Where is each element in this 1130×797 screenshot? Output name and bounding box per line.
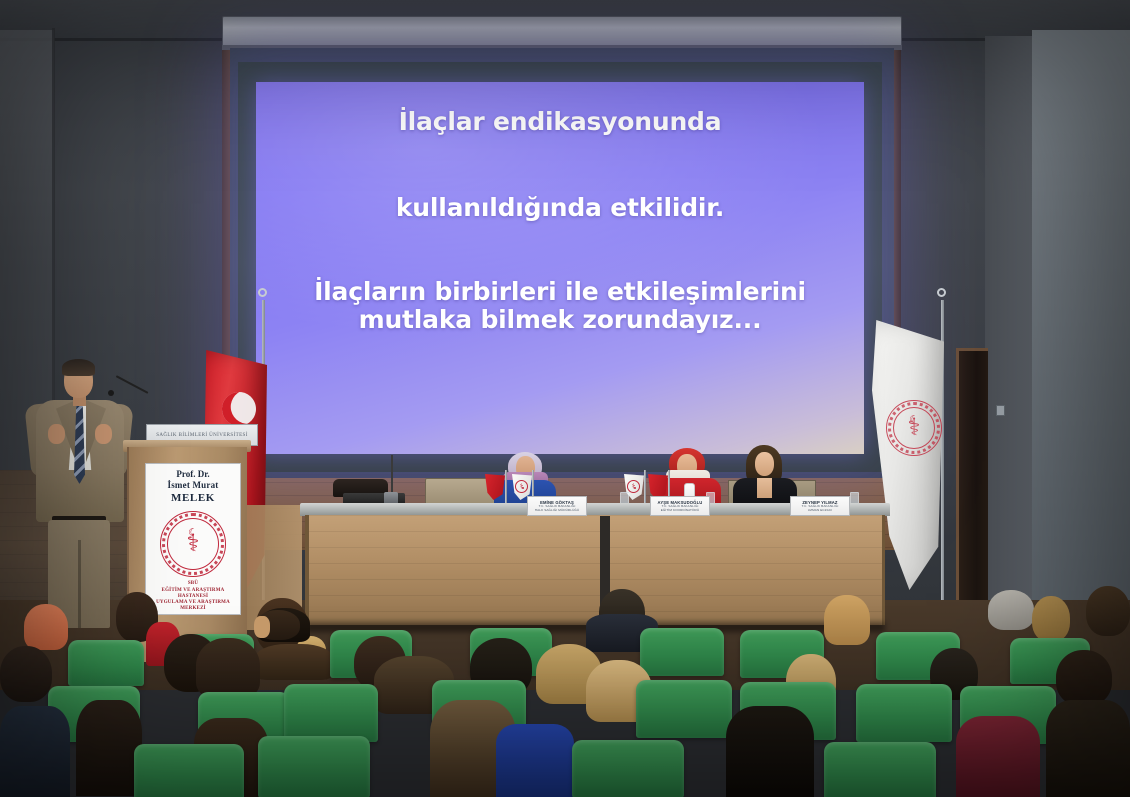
- audience-head: [824, 595, 870, 645]
- nameplate-1: EMİNE GÖKTAŞ T.C. SAĞLIK BAKANLIĞI HALK …: [527, 496, 587, 516]
- slide-line-4: mutlaka bilmek zorundayız...: [274, 306, 846, 334]
- ministry-flag-finial: [937, 288, 946, 297]
- audience-head: [24, 604, 68, 650]
- nameplate-2: AYŞE MAKSUDOĞLU T.C. SAĞLIK BAKANLIĞI EĞ…: [650, 496, 710, 516]
- audience-head: [988, 590, 1034, 630]
- audience-head: [0, 646, 52, 702]
- audience-head: [1032, 596, 1070, 642]
- auditorium-seat[interactable]: [636, 680, 732, 738]
- audience-head: [1056, 650, 1112, 706]
- nameplate-3: ZEYNEP YILMAZ T.C. SAĞLIK BAKANLIĞI UZMA…: [790, 496, 850, 516]
- auditorium-seat[interactable]: [68, 640, 144, 686]
- podium-microphone-head: [108, 390, 114, 396]
- conference-hall-scene: İlaçlar endikasyonunda kullanıldığında e…: [0, 0, 1130, 797]
- podium-sign-emblem-icon: ☾ ⚕: [160, 511, 226, 577]
- projection-screen: İlaçlar endikasyonunda kullanıldığında e…: [256, 82, 864, 454]
- nameplate-3-sub2: UZMAN ECZACI: [808, 509, 832, 513]
- desk-flag-turkish-1: [485, 474, 507, 504]
- right-wall-face: [1032, 30, 1130, 630]
- audience-head: [255, 644, 333, 680]
- slide-line-2: kullanıldığında etkilidir.: [274, 194, 846, 222]
- panel-microphone-stem: [391, 455, 393, 495]
- desk-flag-emblem-icon-1: ⚕: [515, 480, 528, 493]
- podium-sign-footer-2: EĞİTİM VE ARAŞTIRMA HASTANESİ: [146, 588, 240, 601]
- auditorium-seat[interactable]: [640, 628, 724, 676]
- slide-line-1: İlaçlar endikasyonunda: [274, 108, 846, 136]
- auditorium-seat[interactable]: [824, 742, 936, 797]
- auditorium-seat[interactable]: [856, 684, 952, 742]
- speaker-left-hand: [48, 424, 65, 444]
- audience-head: [254, 616, 270, 638]
- podium-sign-surname: MELEK: [171, 492, 215, 506]
- light-switch[interactable]: [996, 405, 1005, 416]
- speaker-right-hand: [95, 424, 112, 444]
- right-wall-return: [985, 36, 1033, 632]
- desk-flag-emblem-icon-2: ⚕: [627, 480, 640, 493]
- speaker-trouser-seam: [78, 540, 81, 628]
- panelist-3-face: [755, 452, 774, 476]
- auditorium-seat[interactable]: [134, 744, 244, 797]
- audience-head: [956, 716, 1040, 797]
- podium-sign-firstname: İsmet Murat: [168, 480, 219, 491]
- audience-head: [1046, 700, 1130, 797]
- podium-speaker-sign: Prof. Dr. İsmet Murat MELEK ☾ ⚕ SBÜ EĞİT…: [145, 463, 241, 615]
- audience-head: [76, 700, 142, 796]
- panel-table-front: [305, 515, 885, 625]
- slide-content: İlaçlar endikasyonunda kullanıldığında e…: [256, 82, 864, 454]
- projection-screen-housing: [222, 16, 902, 48]
- speaker-hair: [62, 359, 95, 376]
- slide-line-3: İlaçların birbirleri ile etkileşimlerini: [274, 278, 846, 306]
- nameplate-1-sub2: HALK SAĞLIĞI MÜDÜRLÜĞÜ: [535, 509, 580, 513]
- audience-head: [726, 706, 814, 797]
- auditorium-seat[interactable]: [258, 736, 370, 797]
- audience-head: [196, 638, 260, 698]
- audience-head: [0, 706, 70, 797]
- panelist-3-neckline: [757, 478, 772, 498]
- podium-plaque-text: SAĞLIK BİLİMLERİ ÜNİVERSİTESİ: [156, 433, 248, 438]
- turkish-flag-finial: [258, 288, 267, 297]
- auditorium-seat[interactable]: [572, 740, 684, 797]
- doorway[interactable]: [956, 348, 988, 638]
- podium-sign-title: Prof. Dr.: [176, 469, 209, 480]
- nameplate-2-sub2: EĞİTİM KOORDİNATÖRÜ: [661, 509, 699, 513]
- ministry-of-health-emblem-icon: ☾ ⚕: [886, 400, 942, 456]
- audience-head: [496, 724, 574, 797]
- podium-sign-footer-3: UYGULAMA VE ARAŞTIRMA MERKEZİ: [146, 600, 240, 613]
- audience-head: [1086, 586, 1130, 636]
- auditorium-seat[interactable]: [284, 684, 378, 742]
